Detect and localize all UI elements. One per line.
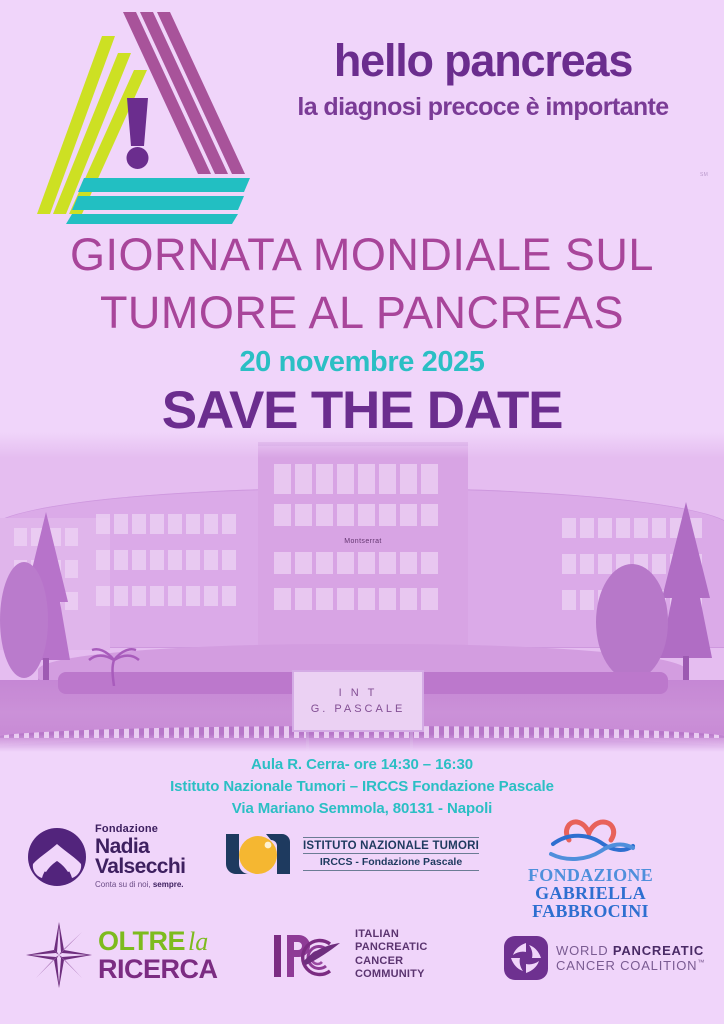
nadia-line-1: Fondazione [95, 824, 185, 835]
int-monogram-icon [224, 830, 296, 878]
hands-icon [32, 842, 82, 882]
brand-subtitle: la diagnosi precoce è importante [258, 94, 708, 120]
sponsor-logo-row-1: Fondazione Nadia Valsecchi Conta su di n… [0, 818, 724, 910]
wpcc-line-1: WORLD PANCREATIC [556, 943, 705, 958]
poster-canvas: hello pancreas la diagnosi precoce è imp… [0, 0, 724, 1024]
heart-fish-icon [543, 818, 639, 864]
fabbrocini-line-1: FONDAZIONE [528, 866, 653, 884]
world-pancreatic-cancer-coalition-logo: WORLD PANCREATIC CANCER COALITION™ [504, 936, 705, 980]
oltre-wordmark: OLTRE la RICERCA [98, 928, 218, 983]
fondazione-nadia-valsecchi-logo: Fondazione Nadia Valsecchi Conta su di n… [28, 824, 185, 889]
venue-line-3: Via Mariano Semmola, 80131 - Napoli [0, 798, 724, 820]
venue-line-2: Istituto Nazionale Tumori – IRCCS Fondaz… [0, 776, 724, 798]
italian-pancreatic-cancer-community-logo: ITALIAN PANCREATIC CANCER COMMUNITY [272, 928, 427, 982]
venue-block: Aula R. Cerra- ore 14:30 – 16:30 Istitut… [0, 754, 724, 819]
sponsor-logo-row-2: OLTRE la RICERCA [0, 916, 724, 1016]
poster-header: hello pancreas la diagnosi precoce è imp… [0, 0, 724, 228]
ipcc-line-3: CANCER [355, 955, 427, 968]
hello-pancreas-triangle-logo [22, 6, 272, 224]
int-wordmark: ISTITUTO NAZIONALE TUMORI IRCCS - Fondaz… [303, 837, 479, 871]
wpcc-line-2: CANCER COALITION™ [556, 958, 705, 973]
nadia-tagline-light: Conta su di noi, [95, 880, 153, 889]
ipcc-line-4: COMMUNITY [355, 968, 427, 981]
ipcc-line-1: ITALIAN [355, 928, 427, 941]
oltre-word-ricerca: RICERCA [98, 956, 218, 983]
service-mark: SM [700, 172, 708, 178]
int-line-1: ISTITUTO NAZIONALE TUMORI [303, 837, 479, 854]
wpcc-trademark: ™ [697, 960, 705, 967]
fondazione-gabriella-fabbrocini-logo: FONDAZIONE GABRIELLA FABBROCINI [528, 818, 653, 920]
istituto-pascale-building-photo: Montserrat [0, 432, 724, 752]
nadia-line-3: Valsecchi [95, 856, 185, 877]
title-line-2: TUMORE AL PANCREAS [0, 284, 724, 342]
compass-star-icon [26, 922, 92, 988]
wpcc-word-world: WORLD [556, 943, 613, 958]
nadia-tagline-bold: sempre. [153, 880, 184, 889]
istituto-nazionale-tumori-pascale-logo: ISTITUTO NAZIONALE TUMORI IRCCS - Fondaz… [224, 830, 479, 878]
wpcc-word-pancreatic: PANCREATIC [613, 943, 704, 958]
wpcc-wordmark: WORLD PANCREATIC CANCER COALITION™ [556, 943, 705, 974]
title-block: GIORNATA MONDIALE SUL TUMORE AL PANCREAS… [0, 226, 724, 440]
ipcc-monogram-icon [272, 929, 346, 981]
nadia-wordmark: Fondazione Nadia Valsecchi Conta su di n… [95, 824, 185, 889]
brand-title: hello pancreas [258, 38, 708, 84]
oltre-la-ricerca-logo: OLTRE la RICERCA [26, 922, 218, 988]
nadia-line-2: Nadia [95, 836, 185, 857]
event-date: 20 novembre 2025 [0, 347, 724, 379]
photo-duotone-tint [0, 432, 724, 752]
oltre-word-la: la [188, 929, 208, 955]
fabbrocini-line-2: GABRIELLA [528, 884, 653, 902]
nadia-tagline: Conta su di noi, sempre. [95, 881, 185, 889]
brand-text-block: hello pancreas la diagnosi precoce è imp… [258, 38, 708, 120]
photo-top-fade [0, 432, 724, 458]
title-line-1: GIORNATA MONDIALE SUL [0, 226, 724, 284]
ipcc-wordmark: ITALIAN PANCREATIC CANCER COMMUNITY [355, 928, 427, 982]
wpcc-line-2-text: CANCER COALITION [556, 958, 697, 973]
photo-bottom-fade [0, 734, 724, 752]
oltre-row-1: OLTRE la [98, 928, 218, 955]
fabbrocini-wordmark: FONDAZIONE GABRIELLA FABBROCINI [528, 866, 653, 920]
wpcc-pinwheel-icon [504, 936, 548, 980]
ipcc-line-2: PANCREATIC [355, 941, 427, 954]
nadia-hands-icon [28, 828, 86, 886]
oltre-word-oltre: OLTRE [98, 928, 185, 955]
venue-line-1: Aula R. Cerra- ore 14:30 – 16:30 [0, 754, 724, 776]
int-line-2: IRCCS - Fondazione Pascale [303, 854, 479, 871]
